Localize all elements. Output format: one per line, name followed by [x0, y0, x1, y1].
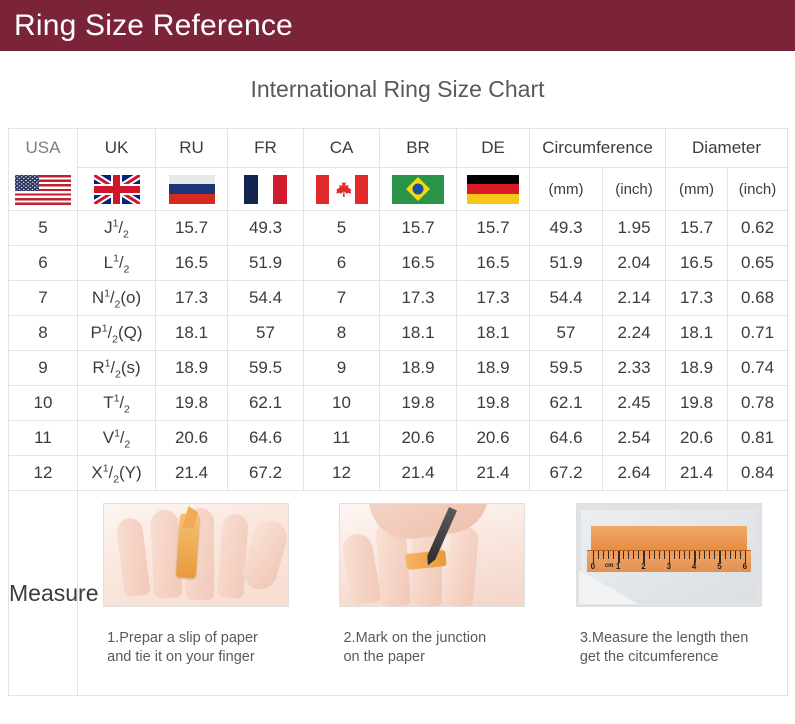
measure-image-2 — [339, 503, 525, 607]
cell-de: 21.4 — [457, 456, 530, 491]
ruler-tick-minor — [649, 551, 650, 559]
ruler-tick-minor — [628, 551, 629, 559]
cell-circumference-inch: 2.14 — [603, 281, 666, 316]
ruler-tick-minor — [623, 551, 624, 559]
table-row: 7N1/2(o)17.354.4717.317.354.42.1417.30.6… — [9, 281, 788, 316]
cell-circumference-inch: 2.54 — [603, 421, 666, 456]
ruler-tick-minor — [740, 551, 741, 559]
cell-circumference-inch: 2.24 — [603, 316, 666, 351]
cell-uk: T1/2 — [78, 386, 156, 421]
ruler-tick-minor — [638, 551, 639, 559]
cell-usa: 5 — [9, 211, 78, 246]
header-label-de: DE — [457, 129, 530, 168]
cell-de: 20.6 — [457, 421, 530, 456]
cell-fr: 64.6 — [228, 421, 304, 456]
ruler-tick-minor — [603, 551, 604, 559]
cell-br: 21.4 — [380, 456, 457, 491]
cell-fr: 49.3 — [228, 211, 304, 246]
measure-caption-2-line1: 2.Mark on the junction — [343, 630, 486, 646]
measure-caption-2-line2: on the paper — [343, 649, 424, 665]
cell-circumference-mm: 51.9 — [530, 246, 603, 281]
cell-ca: 12 — [304, 456, 380, 491]
cell-br: 18.1 — [380, 316, 457, 351]
cell-usa: 11 — [9, 421, 78, 456]
ruler-tick-minor — [679, 551, 680, 559]
cell-ru: 17.3 — [156, 281, 228, 316]
cell-diameter-mm: 16.5 — [666, 246, 728, 281]
header-label-uk: UK — [78, 129, 156, 168]
table-row: 5J1/215.749.3515.715.749.31.9515.70.62 — [9, 211, 788, 246]
cell-usa: 12 — [9, 456, 78, 491]
table-row: 9R1/2(s)18.959.5918.918.959.52.3318.90.7… — [9, 351, 788, 386]
cell-br: 20.6 — [380, 421, 457, 456]
cell-de: 16.5 — [457, 246, 530, 281]
ruler-number: 5 — [717, 562, 721, 571]
table-body: 5J1/215.749.3515.715.749.31.9515.70.626L… — [9, 211, 788, 491]
header-flag-ru — [156, 168, 228, 211]
cell-diameter-mm: 19.8 — [666, 386, 728, 421]
cell-uk: L1/2 — [78, 246, 156, 281]
table-row: 10T1/219.862.11019.819.862.12.4519.80.78 — [9, 386, 788, 421]
ruler-icon: cm 0123456 — [587, 550, 751, 572]
cell-circumference-inch: 1.95 — [603, 211, 666, 246]
cell-diameter-inch: 0.74 — [728, 351, 788, 386]
cell-diameter-mm: 21.4 — [666, 456, 728, 491]
ruler-tick-minor — [699, 551, 700, 559]
measure-step-1: 1.Prepar a slip of paper and tie it on y… — [96, 503, 296, 667]
flag-uk-icon — [94, 175, 140, 204]
flag-brazil-icon — [392, 175, 444, 204]
ruler-tick-minor — [709, 551, 710, 559]
cell-diameter-inch: 0.78 — [728, 386, 788, 421]
cell-ru: 20.6 — [156, 421, 228, 456]
measure-caption-2: 2.Mark on the junction on the paper — [339, 629, 525, 667]
cell-circumference-inch: 2.33 — [603, 351, 666, 386]
header-label-diameter: Diameter — [666, 129, 788, 168]
cell-usa: 6 — [9, 246, 78, 281]
flag-france-icon — [244, 175, 288, 204]
cell-fr: 67.2 — [228, 456, 304, 491]
cell-diameter-mm: 20.6 — [666, 421, 728, 456]
measure-steps-container: 1.Prepar a slip of paper and tie it on y… — [78, 491, 788, 696]
chart-title: International Ring Size Chart — [0, 51, 795, 128]
ring-size-table: USA UK RU FR CA BR DE Circumference Diam… — [8, 128, 788, 696]
ruler-tick-minor — [633, 551, 634, 559]
cell-usa: 9 — [9, 351, 78, 386]
cell-diameter-inch: 0.65 — [728, 246, 788, 281]
flag-russia-icon — [169, 175, 215, 204]
cell-ru: 21.4 — [156, 456, 228, 491]
cell-diameter-inch: 0.84 — [728, 456, 788, 491]
ring-size-reference-page: Ring Size Reference International Ring S… — [0, 0, 795, 724]
ruler-number: 0 — [591, 562, 595, 571]
cell-fr: 57 — [228, 316, 304, 351]
cell-ca: 7 — [304, 281, 380, 316]
cell-circumference-mm: 59.5 — [530, 351, 603, 386]
cell-diameter-inch: 0.68 — [728, 281, 788, 316]
header-label-ca: CA — [304, 129, 380, 168]
measure-caption-1-line2: and tie it on your finger — [107, 649, 255, 665]
flag-canada-icon — [316, 175, 368, 204]
cell-circumference-mm: 57 — [530, 316, 603, 351]
cell-ca: 5 — [304, 211, 380, 246]
cell-ru: 18.1 — [156, 316, 228, 351]
cell-circumference-inch: 2.04 — [603, 246, 666, 281]
cell-de: 18.9 — [457, 351, 530, 386]
measure-caption-1: 1.Prepar a slip of paper and tie it on y… — [103, 629, 289, 667]
header-flag-de — [457, 168, 530, 211]
cell-ru: 19.8 — [156, 386, 228, 421]
cell-ru: 15.7 — [156, 211, 228, 246]
cell-uk: N1/2(o) — [78, 281, 156, 316]
page-banner: Ring Size Reference — [0, 0, 795, 51]
cell-diameter-inch: 0.71 — [728, 316, 788, 351]
flag-usa-icon — [15, 175, 71, 205]
ruler-tick-minor — [684, 551, 685, 559]
cell-ca: 11 — [304, 421, 380, 456]
ruler-tick-minor — [664, 551, 665, 559]
cell-circumference-mm: 64.6 — [530, 421, 603, 456]
ruler-tick-minor — [689, 551, 690, 559]
measure-step-3: cm 0123456 3.Measure the length then get… — [569, 503, 769, 667]
cell-fr: 62.1 — [228, 386, 304, 421]
cell-diameter-inch: 0.81 — [728, 421, 788, 456]
ruler-tick-minor — [714, 551, 715, 559]
cell-ca: 6 — [304, 246, 380, 281]
cell-ru: 18.9 — [156, 351, 228, 386]
ruler-tick-minor — [659, 551, 660, 559]
maple-leaf-icon — [332, 178, 352, 200]
cell-circumference-mm: 67.2 — [530, 456, 603, 491]
header-label-fr: FR — [228, 129, 304, 168]
cell-br: 18.9 — [380, 351, 457, 386]
cell-circumference-inch: 2.64 — [603, 456, 666, 491]
cell-de: 19.8 — [457, 386, 530, 421]
ruler-number: 2 — [641, 562, 645, 571]
header-label-circumference: Circumference — [530, 129, 666, 168]
cell-usa: 8 — [9, 316, 78, 351]
header-flag-fr — [228, 168, 304, 211]
cell-uk: R1/2(s) — [78, 351, 156, 386]
ruler-number: 3 — [667, 562, 671, 571]
cell-ca: 8 — [304, 316, 380, 351]
ruler-cm-label: cm — [605, 563, 614, 569]
ring-size-table-wrapper: USA UK RU FR CA BR DE Circumference Diam… — [8, 128, 787, 696]
header-unit-circumference-inch: (inch) — [603, 168, 666, 211]
table-row: 12X1/2(Y)21.467.21221.421.467.22.6421.40… — [9, 456, 788, 491]
header-label-br: BR — [380, 129, 457, 168]
cell-fr: 51.9 — [228, 246, 304, 281]
ruler-tick-minor — [704, 551, 705, 559]
cell-de: 15.7 — [457, 211, 530, 246]
table-row: 8P1/2(Q)18.157818.118.1572.2418.10.71 — [9, 316, 788, 351]
ruler-number: 1 — [616, 562, 620, 571]
cell-diameter-mm: 15.7 — [666, 211, 728, 246]
cell-usa: 7 — [9, 281, 78, 316]
table-header-flags: (mm) (inch) (mm) (inch) — [9, 168, 788, 211]
cell-circumference-mm: 62.1 — [530, 386, 603, 421]
cell-uk: J1/2 — [78, 211, 156, 246]
cell-circumference-mm: 49.3 — [530, 211, 603, 246]
cell-de: 18.1 — [457, 316, 530, 351]
ruler-tick-minor — [730, 551, 731, 559]
measure-label: Measure — [9, 491, 78, 696]
ruler-tick-minor — [613, 551, 614, 559]
measure-caption-3-line1: 3.Measure the length then — [580, 630, 748, 646]
cell-circumference-mm: 54.4 — [530, 281, 603, 316]
cell-uk: X1/2(Y) — [78, 456, 156, 491]
cell-usa: 10 — [9, 386, 78, 421]
cell-br: 15.7 — [380, 211, 457, 246]
cell-fr: 54.4 — [228, 281, 304, 316]
ruler-tick-minor — [725, 551, 726, 559]
header-label-ru: RU — [156, 129, 228, 168]
table-row: 11V1/220.664.61120.620.664.62.5420.60.81 — [9, 421, 788, 456]
cell-diameter-mm: 18.1 — [666, 316, 728, 351]
cell-br: 17.3 — [380, 281, 457, 316]
cell-fr: 59.5 — [228, 351, 304, 386]
cell-br: 16.5 — [380, 246, 457, 281]
header-unit-diameter-inch: (inch) — [728, 168, 788, 211]
cell-diameter-inch: 0.62 — [728, 211, 788, 246]
ruler-number: 4 — [692, 562, 696, 571]
measure-image-1 — [103, 503, 289, 607]
cell-uk: V1/2 — [78, 421, 156, 456]
page-title: Ring Size Reference — [14, 9, 293, 43]
measure-caption-1-line1: 1.Prepar a slip of paper — [107, 630, 258, 646]
cell-ca: 10 — [304, 386, 380, 421]
ruler-tick-minor — [654, 551, 655, 559]
ruler-tick-minor — [735, 551, 736, 559]
cell-de: 17.3 — [457, 281, 530, 316]
measure-caption-3: 3.Measure the length then get the citcum… — [576, 629, 762, 667]
cell-uk: P1/2(Q) — [78, 316, 156, 351]
measure-image-3: cm 0123456 — [576, 503, 762, 607]
ruler-tick-minor — [674, 551, 675, 559]
header-flag-uk — [78, 168, 156, 211]
header-flag-br — [380, 168, 457, 211]
header-flag-ca — [304, 168, 380, 211]
cell-circumference-inch: 2.45 — [603, 386, 666, 421]
measure-caption-3-line2: get the citcumference — [580, 649, 719, 665]
measure-step-2: 2.Mark on the junction on the paper — [332, 503, 532, 667]
cell-diameter-mm: 18.9 — [666, 351, 728, 386]
measure-row: Measure — [9, 491, 788, 696]
flag-germany-icon — [467, 175, 519, 204]
cell-diameter-mm: 17.3 — [666, 281, 728, 316]
header-label-usa: USA — [26, 138, 61, 158]
ruler-number: 6 — [743, 562, 747, 571]
cell-br: 19.8 — [380, 386, 457, 421]
cell-ru: 16.5 — [156, 246, 228, 281]
table-header-labels: USA UK RU FR CA BR DE Circumference Diam… — [9, 129, 788, 168]
table-row: 6L1/216.551.9616.516.551.92.0416.50.65 — [9, 246, 788, 281]
ruler-tick-minor — [608, 551, 609, 559]
cell-ca: 9 — [304, 351, 380, 386]
header-cell-usa: USA — [9, 129, 78, 211]
ruler-tick-minor — [598, 551, 599, 559]
header-unit-circumference-mm: (mm) — [530, 168, 603, 211]
header-unit-diameter-mm: (mm) — [666, 168, 728, 211]
